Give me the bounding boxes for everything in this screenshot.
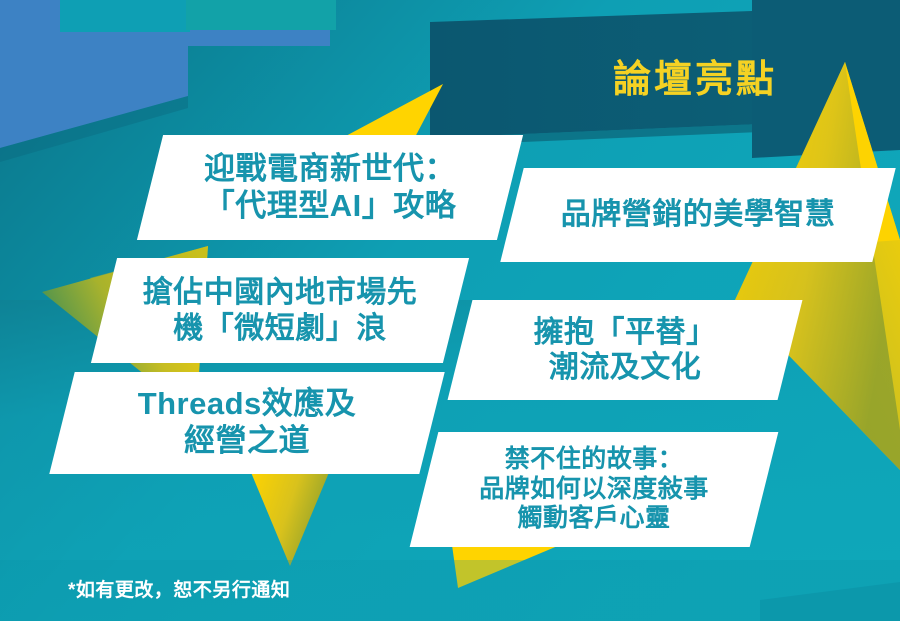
- card-line: 禁不住的故事：: [430, 445, 758, 475]
- card-text: 品牌營銷的美學智慧: [512, 197, 884, 232]
- card-text: 擁抱「平替」 潮流及文化: [460, 315, 790, 386]
- card-text: 搶佔中國內地市場先 機「微短劇」浪: [104, 275, 456, 346]
- card-line: 品牌如何以深度敍事: [430, 475, 758, 505]
- highlight-card-3[interactable]: 搶佔中國內地市場先 機「微短劇」浪: [104, 258, 456, 363]
- card-line: 觸動客戶心靈: [430, 504, 758, 534]
- footnote-text: *如有更改，恕不另行通知: [68, 575, 290, 602]
- card-line: 「代理型AI」攻略: [156, 188, 504, 225]
- forum-highlights-poster: 論壇亮點 迎戰電商新世代： 「代理型AI」攻略 品牌營銷的美學智慧 搶佔中國內地…: [0, 0, 900, 621]
- card-text: 禁不住的故事： 品牌如何以深度敍事 觸動客戶心靈: [424, 445, 764, 534]
- page-title: 論壇亮點: [535, 48, 855, 103]
- highlight-card-5[interactable]: Threads效應及 經營之道: [62, 372, 432, 474]
- highlight-card-2[interactable]: 品牌營銷的美學智慧: [512, 168, 884, 262]
- card-text: Threads效應及 經營之道: [62, 386, 432, 459]
- card-line: 品牌營銷的美學智慧: [518, 197, 878, 232]
- highlight-card-4[interactable]: 擁抱「平替」 潮流及文化: [460, 300, 790, 400]
- highlight-card-1[interactable]: 迎戰電商新世代： 「代理型AI」攻略: [150, 135, 510, 240]
- card-line: 擁抱「平替」: [466, 315, 784, 350]
- card-line: 經營之道: [68, 423, 426, 460]
- card-line: Threads效應及: [68, 386, 426, 423]
- card-line: 迎戰電商新世代：: [156, 151, 504, 188]
- highlight-card-6[interactable]: 禁不住的故事： 品牌如何以深度敍事 觸動客戶心靈: [424, 432, 764, 547]
- card-line: 搶佔中國內地市場先: [110, 275, 450, 310]
- card-line: 潮流及文化: [466, 350, 784, 385]
- card-line: 機「微短劇」浪: [110, 311, 450, 346]
- card-text: 迎戰電商新世代： 「代理型AI」攻略: [150, 151, 510, 224]
